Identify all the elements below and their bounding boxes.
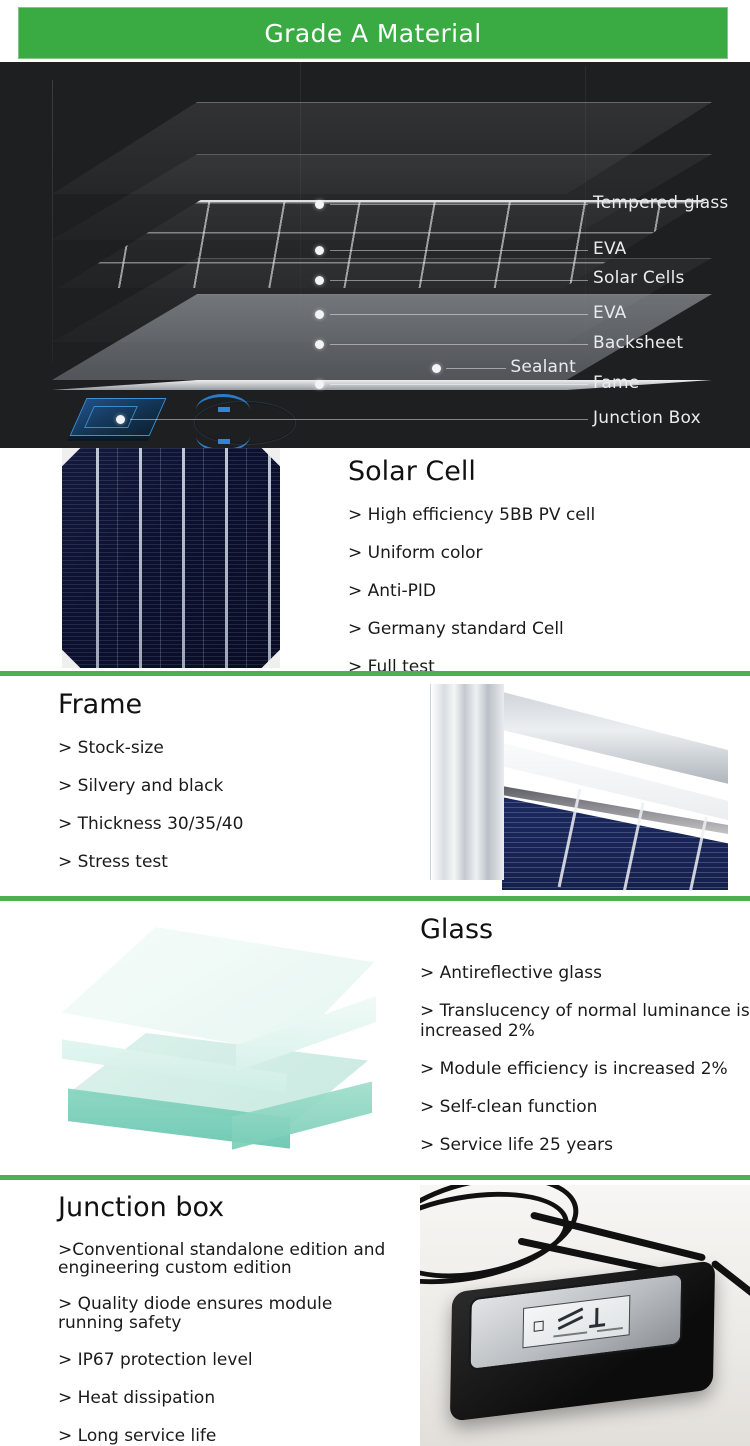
list-item: > Quality diode ensures module running s…: [58, 1295, 398, 1332]
diagram-label-tempered-glass: Tempered glass: [593, 193, 728, 213]
solar-cell-seam: [203, 448, 204, 668]
leader-dot-backsheet: [315, 340, 324, 349]
junction-box-symbol-icon: [553, 1331, 587, 1337]
section-title-frame: Frame: [58, 690, 388, 720]
junction-box-label-plate: [522, 1295, 630, 1349]
exploded-layer-diagram: Tempered glass EVA Solar Cells EVA Backs…: [0, 62, 750, 448]
section-title-glass: Glass: [420, 915, 750, 945]
list-item: > Self-clean function: [420, 1097, 750, 1117]
leader-line-fame: [330, 384, 588, 385]
cable-tick-top: [218, 407, 230, 412]
solar-cell-busbar: [139, 448, 142, 668]
glass-bullet-list: > Antireflective glass > Translucency of…: [420, 945, 750, 1155]
leader-line-tempered-glass: [330, 204, 588, 205]
leader-dot-eva-bottom: [315, 310, 324, 319]
list-item: > Silvery and black: [58, 776, 388, 796]
leader-line-eva-bottom: [330, 314, 588, 315]
leader-dot-junction-box: [116, 415, 125, 424]
infographic-page: Grade A Material: [0, 0, 750, 1446]
section-title-solar-cell: Solar Cell: [348, 457, 738, 487]
solar-cell-busbar: [225, 448, 228, 668]
list-item: > Translucency of normal luminance is in…: [420, 1001, 750, 1041]
list-item: > Long service life: [58, 1426, 398, 1446]
solar-cell-bullet-list: > High efficiency 5BB PV cell > Uniform …: [348, 487, 738, 677]
solar-cell-busbar: [96, 448, 99, 668]
solar-cell-busbar: [268, 448, 271, 668]
list-item: > Stress test: [58, 852, 388, 872]
diagram-label-eva-top: EVA: [593, 239, 627, 259]
leader-line-backsheet: [330, 344, 588, 345]
leader-dot-solar-cells: [315, 276, 324, 285]
section-frame: Frame > Stock-size > Silvery and black >…: [0, 676, 750, 891]
grade-a-banner: Grade A Material: [18, 7, 728, 59]
solar-cell-seam: [160, 448, 161, 668]
diagram-label-junction-box: Junction Box: [593, 408, 701, 428]
list-item: > Thickness 30/35/40: [58, 814, 388, 834]
list-item: > Service life 25 years: [420, 1135, 750, 1155]
diagram-label-fame: Fame: [593, 373, 639, 393]
banner-container: Grade A Material: [0, 0, 750, 62]
solar-cell-surface: [62, 448, 280, 668]
section-glass: Glass > Antireflective glass > Transluce…: [0, 901, 750, 1175]
diagram-sidewall-left: [52, 80, 53, 362]
list-item: > Module efficiency is increased 2%: [420, 1059, 750, 1079]
glass-text-block: Glass > Antireflective glass > Transluce…: [420, 915, 750, 1155]
tempered-glass-photo: [22, 905, 382, 1167]
aluminium-frame-photo: [418, 676, 728, 891]
list-item: > Uniform color: [348, 543, 738, 563]
list-item: > IP67 protection level: [58, 1350, 398, 1370]
diagram-stage: Tempered glass EVA Solar Cells EVA Backs…: [0, 62, 750, 448]
diagram-label-backsheet: Backsheet: [593, 333, 683, 353]
junction-box-glyph-inner: [84, 406, 138, 428]
cable-tick-bottom: [218, 439, 230, 444]
solar-cell-seam: [246, 448, 247, 668]
junction-box-symbol-icon: [589, 1323, 605, 1328]
junction-box-bullet-list: >Conventional standalone edition and eng…: [58, 1223, 398, 1446]
leader-dot-tempered-glass: [315, 200, 324, 209]
section-solar-cell: Solar Cell > High efficiency 5BB PV cell…: [0, 448, 750, 671]
leader-line-junction-box: [130, 419, 588, 420]
list-item: > Germany standard Cell: [348, 619, 738, 639]
leader-dot-fame: [315, 380, 324, 389]
section-junction-box: Junction box >Conventional standalone ed…: [0, 1180, 750, 1446]
diagram-label-sealant: Sealant: [436, 357, 576, 377]
frame-aluminium-profile: [430, 684, 504, 880]
list-item: >Conventional standalone edition and eng…: [58, 1241, 398, 1278]
junction-box-text-block: Junction box >Conventional standalone ed…: [58, 1193, 398, 1446]
junction-box-symbol-icon: [534, 1321, 544, 1332]
junction-box-lid: [469, 1272, 684, 1371]
banner-title: Grade A Material: [264, 19, 481, 48]
frame-text-block: Frame > Stock-size > Silvery and black >…: [58, 690, 388, 872]
solar-cell-text-block: Solar Cell > High efficiency 5BB PV cell…: [348, 457, 738, 677]
solar-cell-photo: [62, 448, 280, 668]
solar-cell-seam: [117, 448, 118, 668]
diagram-label-eva-bottom: EVA: [593, 303, 627, 323]
section-title-junction-box: Junction box: [58, 1193, 398, 1223]
list-item: > Anti-PID: [348, 581, 738, 601]
list-item: > Heat dissipation: [58, 1388, 398, 1408]
frame-bullet-list: > Stock-size > Silvery and black > Thick…: [58, 720, 388, 872]
list-item: > Antireflective glass: [420, 963, 750, 983]
solar-cell-busbar: [182, 448, 185, 668]
junction-box-photo: [420, 1185, 750, 1446]
leader-dot-eva-top: [315, 246, 324, 255]
junction-box-symbol-icon: [597, 1327, 623, 1332]
leader-line-eva-top: [330, 250, 588, 251]
leader-line-solar-cells: [330, 280, 588, 281]
diagram-label-solar-cells: Solar Cells: [593, 268, 685, 288]
list-item: > High efficiency 5BB PV cell: [348, 505, 738, 525]
list-item: > Stock-size: [58, 738, 388, 758]
